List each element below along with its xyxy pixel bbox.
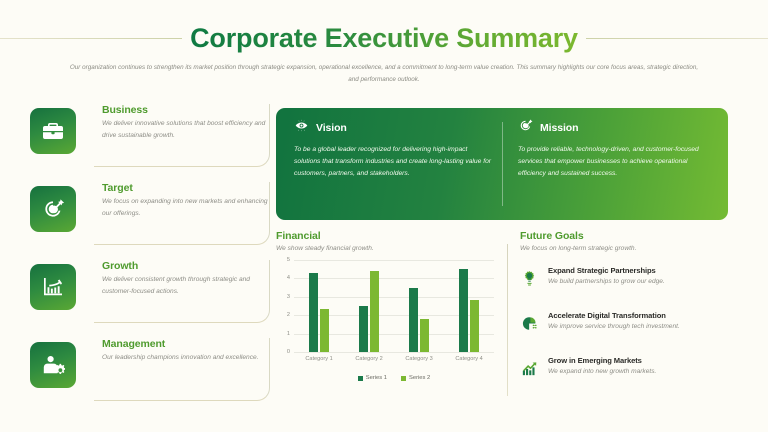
- chart-x-label: Category 4: [446, 356, 492, 368]
- sidebar-item-title: Business: [102, 104, 270, 116]
- sidebar-item-title: Management: [102, 338, 270, 350]
- goal-desc: We expand into new growth markets.: [548, 368, 728, 375]
- financial-bar-chart: 543210 Category 1Category 2Category 3Cat…: [276, 260, 498, 370]
- chart-x-label: Category 2: [346, 356, 392, 368]
- sidebar-item-growth[interactable]: Growth We deliver consistent growth thro…: [30, 260, 270, 328]
- mission-text: To provide reliable, technology-driven, …: [518, 144, 716, 180]
- goal-desc: We improve service through tech investme…: [548, 323, 728, 330]
- chart-bar: [320, 309, 329, 352]
- goals-title: Future Goals: [520, 230, 728, 242]
- page-title: Corporate Executive Summary: [190, 23, 578, 54]
- sidebar-item-business[interactable]: Business We deliver innovative solutions…: [30, 104, 270, 172]
- page-subtitle: Our organization continues to strengthen…: [64, 62, 704, 87]
- financial-subtitle: We show steady financial growth.: [276, 245, 498, 252]
- vision-header: Vision: [294, 120, 492, 136]
- chart-y-tick: 1: [276, 331, 290, 337]
- target-icon: [30, 186, 76, 232]
- goal-body: Accelerate Digital Transformation We imp…: [548, 311, 728, 330]
- chart-y-tick: 2: [276, 312, 290, 318]
- chart-bar-group: [309, 260, 329, 352]
- goal-body: Expand Strategic Partnerships We build p…: [548, 266, 728, 285]
- decorative-line-left: [0, 38, 182, 39]
- goal-title: Grow in Emerging Markets: [548, 356, 728, 365]
- chart-y-tick: 4: [276, 275, 290, 281]
- vision-title: Vision: [316, 122, 347, 134]
- mission-column: Mission To provide reliable, technology-…: [518, 120, 716, 180]
- sidebar-item-body: Management Our leadership champions inno…: [102, 338, 270, 364]
- vision-column: Vision To be a global leader recognized …: [294, 120, 492, 180]
- growth-chart-icon: [30, 264, 76, 310]
- management-person-gear-icon: [30, 342, 76, 388]
- sidebar-item-title: Growth: [102, 260, 270, 272]
- chart-bar: [359, 306, 368, 352]
- goal-desc: We build partnerships to grow our edge.: [548, 278, 728, 285]
- legend-swatch: [358, 376, 363, 381]
- mission-title: Mission: [540, 122, 578, 134]
- sidebar-item-body: Target We focus on expanding into new ma…: [102, 182, 270, 219]
- growth-bars-icon: [520, 359, 538, 377]
- goal-item-grow-in-emerging-markets[interactable]: Grow in Emerging Markets We expand into …: [520, 356, 728, 396]
- panel-divider: [502, 122, 503, 206]
- goal-item-accelerate-digital-transformation[interactable]: Accelerate Digital Transformation We imp…: [520, 311, 728, 351]
- title-row: Corporate Executive Summary: [0, 18, 768, 58]
- goal-item-expand-strategic-partnerships[interactable]: Expand Strategic Partnerships We build p…: [520, 266, 728, 306]
- goal-title: Expand Strategic Partnerships: [548, 266, 728, 275]
- target-icon: [518, 118, 533, 138]
- legend-swatch: [401, 376, 406, 381]
- financial-block: Financial We show steady financial growt…: [276, 230, 498, 252]
- chart-x-label: Category 3: [396, 356, 442, 368]
- focus-areas-sidebar: Business We deliver innovative solutions…: [30, 104, 270, 414]
- future-goals-block: Future Goals We focus on long-term strat…: [520, 230, 728, 401]
- legend-label: Series 2: [409, 375, 430, 381]
- bottom-row: Financial We show steady financial growt…: [276, 230, 728, 410]
- chart-legend: Series 1Series 2: [294, 372, 494, 384]
- lightbulb-gear-icon: [520, 269, 538, 287]
- vision-text: To be a global leader recognized for del…: [294, 144, 492, 180]
- mission-header: Mission: [518, 120, 716, 136]
- financial-title: Financial: [276, 230, 498, 242]
- chart-y-tick: 5: [276, 257, 290, 263]
- digital-transformation-icon: [520, 314, 538, 332]
- chart-y-tick: 0: [276, 349, 290, 355]
- briefcase-icon: [30, 108, 76, 154]
- chart-bar: [309, 273, 318, 352]
- chart-bars: [294, 260, 494, 352]
- goal-body: Grow in Emerging Markets We expand into …: [548, 356, 728, 375]
- sidebar-item-desc: We deliver consistent growth through str…: [102, 274, 270, 297]
- chart-bar: [470, 300, 479, 352]
- legend-label: Series 1: [366, 375, 387, 381]
- chart-bar: [409, 288, 418, 352]
- chart-legend-item[interactable]: Series 2: [401, 375, 430, 381]
- sidebar-item-desc: We focus on expanding into new markets a…: [102, 196, 270, 219]
- chart-x-label: Category 1: [296, 356, 342, 368]
- goals-subtitle: We focus on long-term strategic growth.: [520, 245, 728, 252]
- sidebar-item-body: Growth We deliver consistent growth thro…: [102, 260, 270, 297]
- chart-y-tick: 3: [276, 294, 290, 300]
- chart-bar-group: [459, 260, 479, 352]
- vision-mission-panel: Vision To be a global leader recognized …: [276, 108, 728, 220]
- goal-title: Accelerate Digital Transformation: [548, 311, 728, 320]
- sidebar-item-desc: We deliver innovative solutions that boo…: [102, 118, 270, 141]
- decorative-line-right: [586, 38, 768, 39]
- sidebar-item-desc: Our leadership champions innovation and …: [102, 352, 270, 364]
- chart-bar-group: [359, 260, 379, 352]
- column-divider: [507, 244, 508, 396]
- chart-bar-group: [409, 260, 429, 352]
- chart-gridline: [294, 352, 494, 353]
- chart-bar: [459, 269, 468, 352]
- sidebar-item-target[interactable]: Target We focus on expanding into new ma…: [30, 182, 270, 250]
- sidebar-item-management[interactable]: Management Our leadership champions inno…: [30, 338, 270, 406]
- chart-x-axis: Category 1Category 2Category 3Category 4: [294, 356, 494, 368]
- chart-bar: [370, 271, 379, 352]
- chart-legend-item[interactable]: Series 1: [358, 375, 387, 381]
- eye-icon: [294, 118, 309, 138]
- sidebar-item-title: Target: [102, 182, 270, 194]
- slide-header: Corporate Executive Summary Our organiza…: [0, 0, 768, 96]
- chart-bar: [420, 319, 429, 352]
- goals-list: Expand Strategic Partnerships We build p…: [520, 266, 728, 396]
- sidebar-item-body: Business We deliver innovative solutions…: [102, 104, 270, 141]
- chart-plot: [294, 260, 494, 352]
